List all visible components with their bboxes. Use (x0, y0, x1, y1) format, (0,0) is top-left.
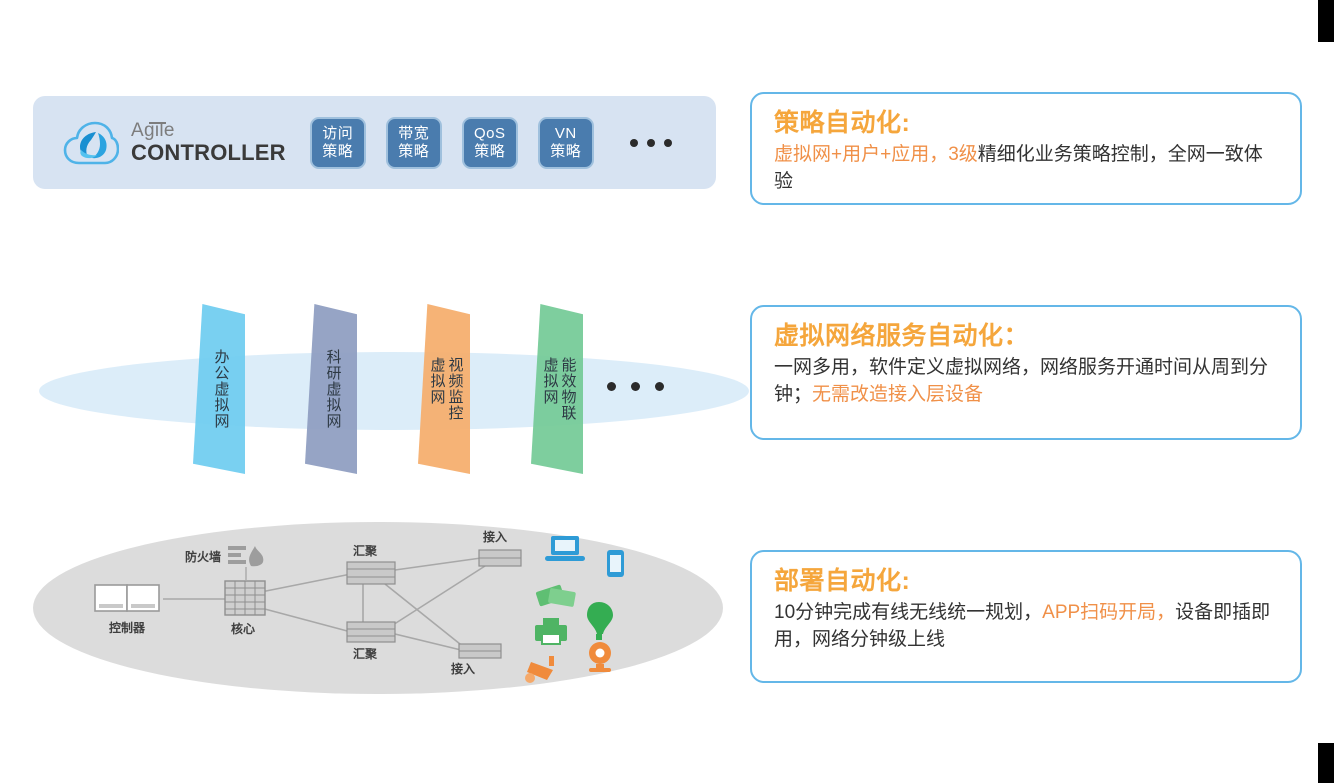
chip-line-1: QoS (474, 125, 506, 143)
controller-node-icon (95, 585, 159, 611)
agile-controller-bar: Agile CONTROLLER 访问 策略 带宽 策略 QoS 策略 VN 策… (33, 96, 716, 189)
virtual-network-plane-office: 办公虚拟网 (193, 304, 245, 474)
card-body-highlight: 虚拟网+用户+应用，3级 (774, 144, 978, 165)
card-body: 虚拟网+用户+应用，3级精细化业务策略控制，全网一致体验 (774, 141, 1280, 195)
plane-label-main: 办公虚拟网 (213, 349, 230, 429)
agile-controller-logo: Agile CONTROLLER (63, 119, 286, 167)
policy-chip-qos[interactable]: QoS 策略 (462, 117, 518, 169)
logo-controller-text: CONTROLLER (131, 142, 286, 164)
chip-line-2: 策略 (398, 143, 429, 161)
plane-label-sub: 虚拟网 (542, 357, 559, 421)
card-body-highlight: 无需改造接入层设备 (812, 384, 983, 405)
card-title: 部署自动化: (774, 566, 1280, 597)
chip-line-1: 带宽 (398, 125, 429, 143)
card-title: 虚拟网络服务自动化： (774, 321, 1280, 352)
banknote-icon (535, 584, 576, 607)
topology-label-aggregation-top: 汇聚 (353, 542, 377, 559)
feature-card-virtual-network-service-automation: 虚拟网络服务自动化： 一网多用，软件定义虚拟网络，网络服务开通时间从周到分钟；无… (750, 305, 1302, 440)
top-right-black-bar (1318, 0, 1334, 42)
plane-label-sub: 虚拟网 (429, 357, 446, 421)
policy-chip-access[interactable]: 访问 策略 (310, 117, 366, 169)
topology-label-access-top: 接入 (483, 528, 507, 545)
topology-label-access-bottom: 接入 (451, 660, 475, 677)
cctv-icon (525, 656, 554, 683)
topology-label-core: 核心 (231, 620, 255, 637)
policy-more-ellipsis-icon (630, 139, 672, 147)
chip-line-2: 策略 (474, 143, 505, 161)
virtual-network-plane-research: 科研虚拟网 (305, 304, 357, 474)
planes-more-ellipsis-icon (607, 382, 664, 391)
topology-label-controller: 控制器 (109, 619, 145, 636)
card-body-text: 10分钟完成有线无线统一规划， (774, 602, 1042, 623)
printer-icon (535, 618, 567, 644)
phone-icon (607, 550, 624, 577)
bulb-icon (587, 602, 613, 640)
bottom-right-black-bar (1318, 743, 1334, 783)
chip-line-1: VN (555, 125, 577, 143)
firewall-icon (228, 546, 263, 581)
core-switch-icon (225, 581, 265, 615)
logo-word-agile: Agile (131, 121, 175, 140)
topology-label-firewall: 防火墙 (185, 548, 221, 565)
webcam-icon (589, 642, 611, 672)
plane-label-main: 视频监控 (447, 357, 464, 421)
feature-card-deployment-automation: 部署自动化: 10分钟完成有线无线统一规划，APP扫码开局，设备即插即用，网络分… (750, 550, 1302, 683)
aggregation-switch-top-icon (347, 562, 395, 584)
virtual-network-planes: 办公虚拟网 科研虚拟网 视频监控 虚拟网 能效物联 虚拟网 (33, 290, 733, 490)
policy-chip-bandwidth[interactable]: 带宽 策略 (386, 117, 442, 169)
topology-links (163, 558, 485, 650)
topology-label-aggregation-bottom: 汇聚 (353, 645, 377, 662)
card-body: 10分钟完成有线无线统一规划，APP扫码开局，设备即插即用，网络分钟级上线 (774, 599, 1280, 653)
plane-label-main: 能效物联 (560, 357, 577, 421)
card-body-highlight: APP扫码开局， (1042, 602, 1175, 623)
access-switch-top-icon (479, 550, 521, 566)
access-switch-bottom-icon (459, 644, 501, 658)
policy-chip-vn[interactable]: VN 策略 (538, 117, 594, 169)
policy-chip-group: 访问 策略 带宽 策略 QoS 策略 VN 策略 (310, 117, 672, 169)
aggregation-switch-bottom-icon (347, 622, 395, 642)
chip-line-2: 策略 (550, 143, 581, 161)
network-topology-diagram: 控制器 防火墙 核心 汇聚 汇聚 接入 接入 (33, 522, 723, 694)
planes-background-ellipse (39, 352, 749, 430)
cloud-icon (63, 119, 119, 167)
laptop-icon (545, 536, 585, 561)
plane-label-main: 科研虚拟网 (325, 349, 342, 429)
macron-mark (149, 122, 166, 124)
chip-line-1: 访问 (322, 125, 353, 143)
card-title: 策略自动化: (774, 108, 1280, 139)
feature-card-policy-automation: 策略自动化: 虚拟网+用户+应用，3级精细化业务策略控制，全网一致体验 (750, 92, 1302, 205)
card-body: 一网多用，软件定义虚拟网络，网络服务开通时间从周到分钟；无需改造接入层设备 (774, 354, 1280, 408)
virtual-network-plane-video-surveillance: 视频监控 虚拟网 (418, 304, 470, 474)
chip-line-2: 策略 (322, 143, 353, 161)
virtual-network-plane-energy-iot: 能效物联 虚拟网 (531, 304, 583, 474)
